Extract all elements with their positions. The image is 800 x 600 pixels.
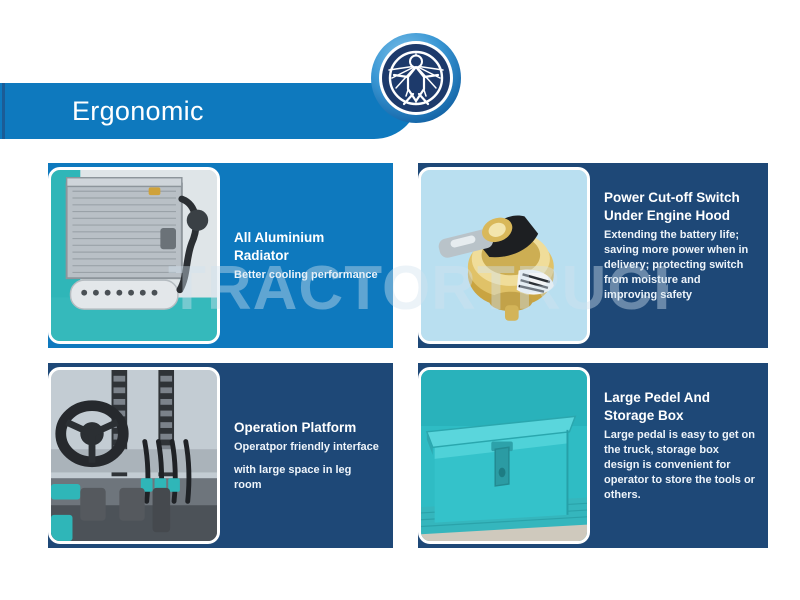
feature-card-grid: All Aluminium Radiator Better cooling pe… (0, 150, 800, 570)
power-switch-photo (418, 167, 590, 344)
operation-platform-photo-graphic (51, 370, 217, 541)
card-body-line: Extending the battery life; saving more … (604, 228, 756, 303)
storage-box-photo (418, 367, 590, 544)
power-switch-photo-graphic (421, 170, 587, 341)
radiator-photo (48, 167, 220, 344)
card-body-line: Better cooling performance (234, 268, 381, 283)
feature-card-operation-platform[interactable]: Operation Platform Operatpor friendly in… (48, 363, 393, 548)
card-text-block: All Aluminium Radiator Better cooling pe… (234, 163, 381, 348)
card-title: All Aluminium Radiator (234, 229, 381, 265)
card-text-block: Power Cut-off Switch Under Engine Hood E… (604, 163, 756, 348)
radiator-photo-graphic (51, 170, 217, 341)
page-title: Ergonomic (72, 94, 204, 128)
feature-card-power-cut-off-switch[interactable]: Power Cut-off Switch Under Engine Hood E… (418, 163, 768, 348)
feature-card-large-pedel-and-storage-box[interactable]: Large Pedel And Storage Box Large pedal … (418, 363, 768, 548)
header-banner-bar (0, 83, 420, 139)
logo-disc (382, 44, 450, 112)
card-body-line: Operatpor friendly interface (234, 440, 381, 455)
slide-page: Ergonomic (0, 0, 800, 600)
card-text-block: Large Pedel And Storage Box Large pedal … (604, 363, 756, 548)
vitruvian-man-badge-icon (371, 33, 461, 123)
card-text-block: Operation Platform Operatpor friendly in… (234, 363, 381, 548)
card-body-line: Large pedal is easy to get on the truck,… (604, 428, 756, 503)
card-title: Operation Platform (234, 419, 381, 437)
header-bar-accent-edge (2, 83, 5, 139)
card-title: Power Cut-off Switch Under Engine Hood (604, 189, 756, 225)
vitruvian-figure-icon (382, 44, 450, 112)
card-title: Large Pedel And Storage Box (604, 389, 756, 425)
storage-box-photo-graphic (421, 370, 587, 541)
card-body-line: with large space in leg room (234, 463, 381, 493)
page-header: Ergonomic (0, 0, 800, 150)
operation-platform-photo (48, 367, 220, 544)
feature-card-all-aluminium-radiator[interactable]: All Aluminium Radiator Better cooling pe… (48, 163, 393, 348)
